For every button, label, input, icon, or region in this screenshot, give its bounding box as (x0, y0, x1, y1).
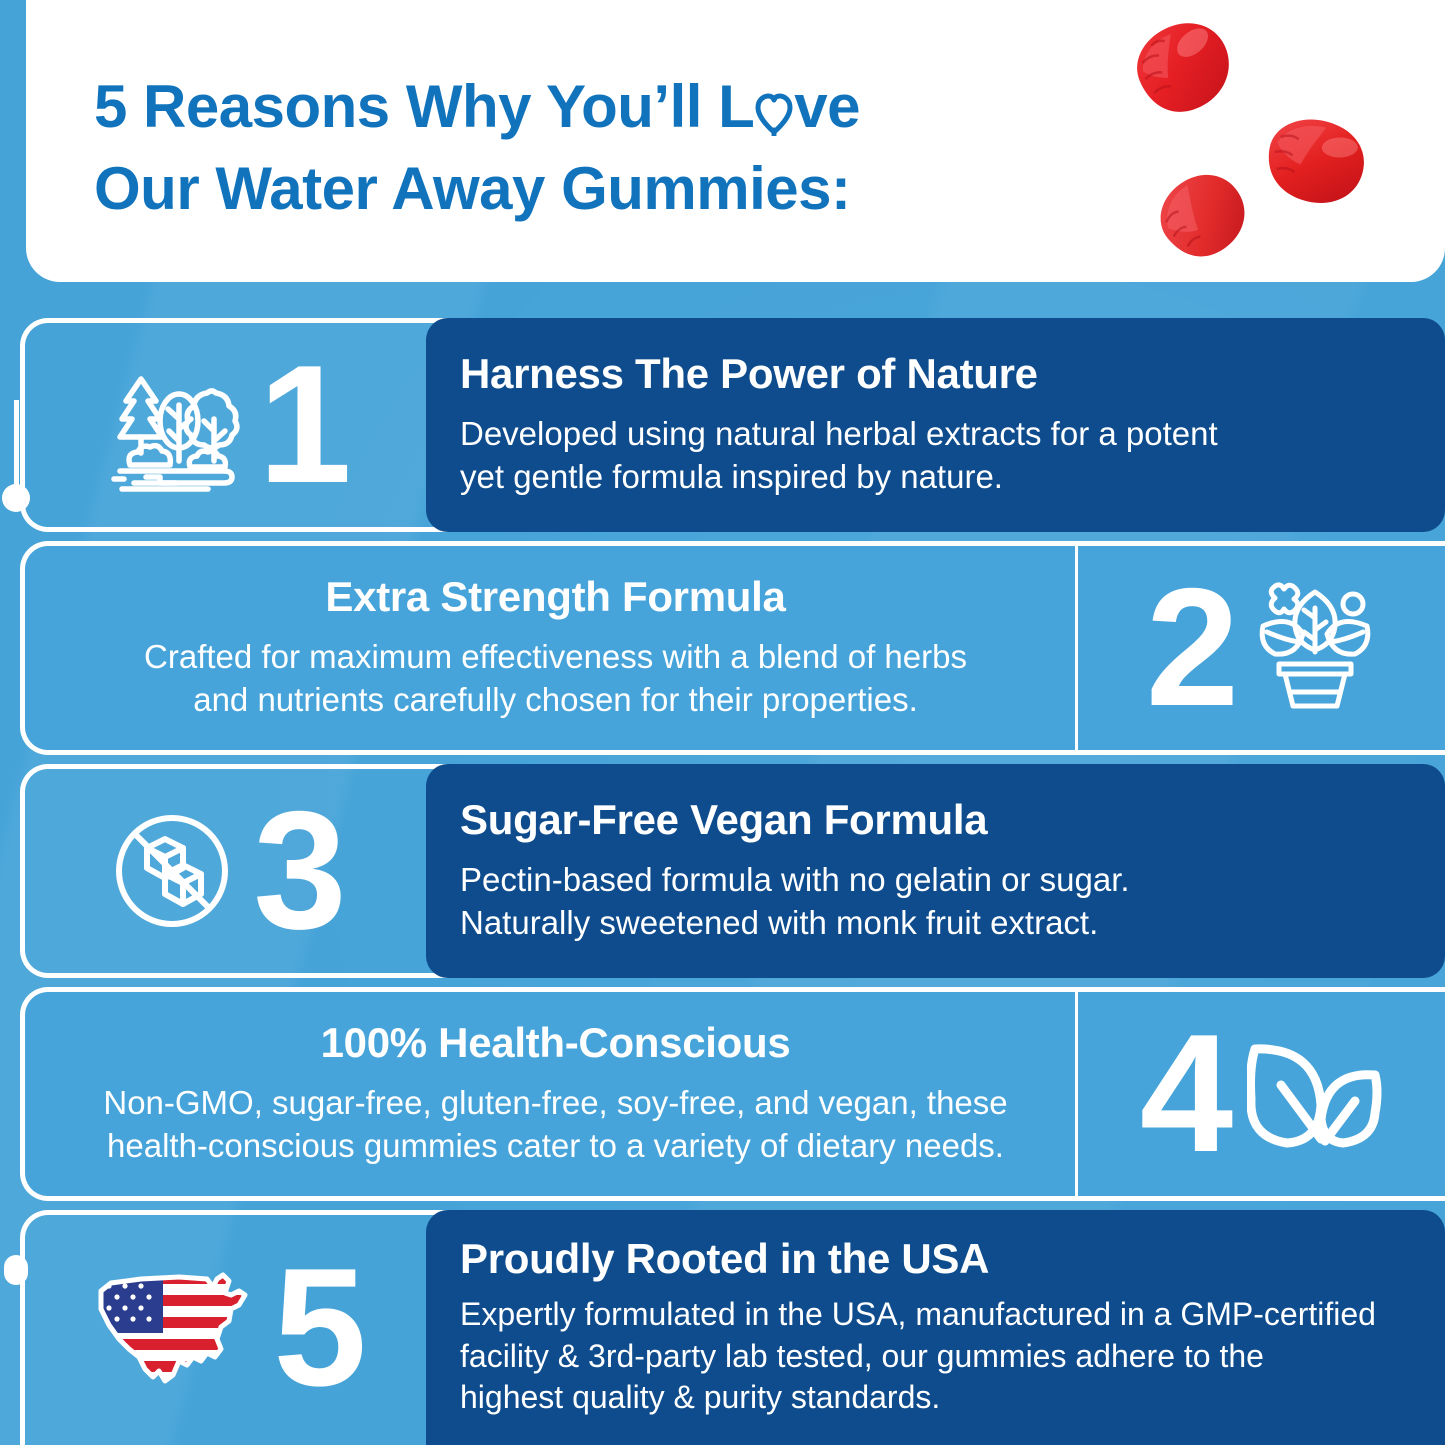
card-4-number: 4 (1140, 1025, 1229, 1163)
card-4-title: 100% Health-Conscious (86, 1020, 1025, 1066)
card-3-dark-panel: Sugar-Free Vegan Formula Pectin-based fo… (426, 764, 1445, 978)
reason-card-1[interactable]: 1 Harness The Power of Nature Developed … (26, 318, 1445, 532)
card-4-icon-pane: 4 (1075, 987, 1445, 1201)
connector-stem (14, 400, 19, 490)
card-4-text-pane: 100% Health-Conscious Non-GMO, sugar-fre… (26, 987, 1075, 1201)
card-2-text-pane: Extra Strength Formula Crafted for maxim… (26, 541, 1075, 755)
card-1-title: Harness The Power of Nature (460, 351, 1411, 397)
page-title-line1-tail: ve (794, 73, 860, 140)
header-card: 5 Reasons Why You’ll LveOur Water Away G… (26, 0, 1445, 282)
infographic-page: 5 Reasons Why You’ll LveOur Water Away G… (0, 0, 1445, 1445)
heart-icon (754, 89, 794, 133)
card-3-icon-pane: 3 (26, 764, 426, 978)
card-5-text-pane: Proudly Rooted in the USA Expertly formu… (426, 1210, 1445, 1445)
card-1-icon-pane: 1 (26, 318, 426, 532)
card-1-number: 1 (258, 356, 347, 494)
card-5-number: 5 (273, 1259, 362, 1397)
reason-card-2[interactable]: Extra Strength Formula Crafted for maxim… (26, 541, 1445, 755)
gummy-candy-2 (1244, 99, 1386, 230)
gummy-candy-1 (1108, 0, 1257, 144)
card-5-dark-panel: Proudly Rooted in the USA Expertly formu… (426, 1210, 1445, 1445)
reason-card-3[interactable]: 3 Sugar-Free Vegan Formula Pectin-based … (26, 764, 1445, 978)
card-5-body: Expertly formulated in the USA, manufact… (460, 1294, 1411, 1419)
card-5-icon-pane: 5 (26, 1210, 426, 1445)
card-3-title: Sugar-Free Vegan Formula (460, 797, 1411, 843)
page-title: 5 Reasons Why You’ll LveOur Water Away G… (94, 66, 860, 229)
potted-herbs-icon (1253, 582, 1377, 714)
card-2-body: Crafted for maximum effectiveness with a… (86, 635, 1025, 722)
card-4-body: Non-GMO, sugar-free, gluten-free, soy-fr… (86, 1081, 1025, 1168)
card-3-number: 3 (253, 802, 342, 940)
forest-trees-icon (104, 357, 240, 493)
card-1-body: Developed using natural herbal extracts … (460, 412, 1411, 499)
card-3-body: Pectin-based formula with no gelatin or … (460, 858, 1411, 945)
card-1-dark-panel: Harness The Power of Nature Developed us… (426, 318, 1445, 532)
reason-card-4[interactable]: 100% Health-Conscious Non-GMO, sugar-fre… (26, 987, 1445, 1201)
page-title-line2: Our Water Away Gummies: (94, 155, 851, 222)
usa-flag-map-icon (89, 1265, 255, 1391)
reason-card-5[interactable]: 5 Proudly Rooted in the USA Expertly for… (26, 1210, 1445, 1445)
card-3-text-pane: Sugar-Free Vegan Formula Pectin-based fo… (426, 764, 1445, 978)
card-5-title: Proudly Rooted in the USA (460, 1236, 1411, 1282)
no-sugar-cubes-icon (109, 808, 235, 934)
card-2-title: Extra Strength Formula (86, 574, 1025, 620)
two-leaves-icon (1247, 1035, 1383, 1153)
page-title-line1: 5 Reasons Why You’ll L (94, 73, 754, 140)
card-1-text-pane: Harness The Power of Nature Developed us… (426, 318, 1445, 532)
gummy-candies-group (1105, 0, 1445, 282)
card-2-icon-pane: 2 (1075, 541, 1445, 755)
card-2-number: 2 (1146, 579, 1235, 717)
connector-dot-bottom (4, 1255, 28, 1285)
